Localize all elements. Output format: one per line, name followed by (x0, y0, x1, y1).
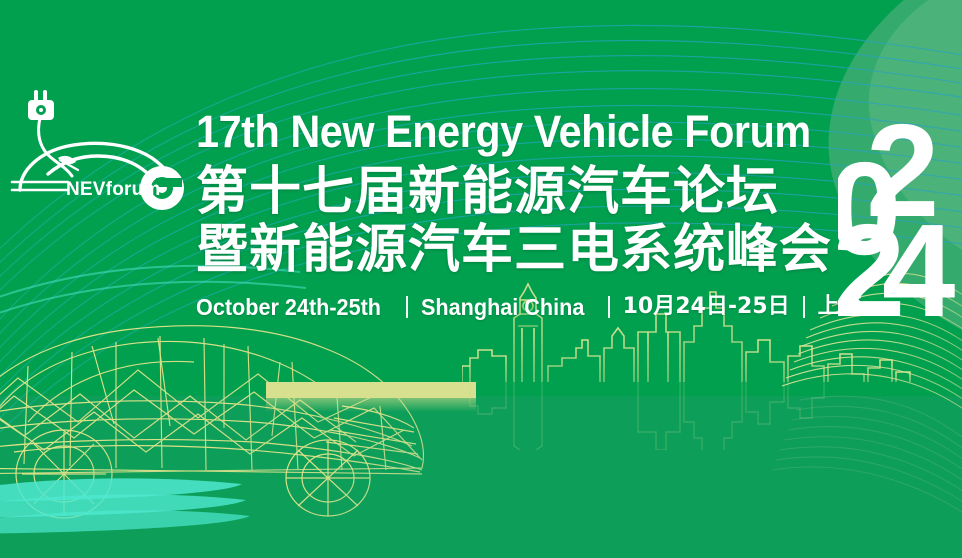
meta-separator-2 (608, 296, 610, 318)
logo-wordmark-forum: forum (106, 179, 161, 200)
charging-plug-icon (28, 90, 54, 120)
title-chinese-line2: 暨新能源汽车三电系统峰会 (196, 222, 846, 278)
meta-date-en: October 24th-25th (196, 294, 381, 320)
cyan-glow-icon (0, 478, 250, 534)
meta-location-en: Shanghai China (421, 294, 584, 320)
event-meta: October 24th-25th Shanghai China 10月24日-… (196, 294, 846, 320)
logo-wordmark: NEVforum (66, 180, 161, 199)
platform-bar-icon (266, 382, 476, 398)
year-digit-bottom-right: 4 (882, 197, 955, 316)
meta-date-cn: 10月24日-25日 (623, 294, 790, 320)
year-2024-graphic: 2 0 2 4 (838, 104, 958, 316)
title-chinese-line1: 第十七届新能源汽车论坛 (196, 164, 846, 220)
event-banner: NEVforum 17th New Energy Vehicle Forum 第… (0, 0, 962, 558)
meta-separator-1 (406, 296, 408, 318)
platform-bar-reflection-icon (266, 398, 476, 412)
logo-wordmark-nev: NEV (66, 179, 106, 200)
title-english: 17th New Energy Vehicle Forum (196, 106, 794, 158)
meta-separator-3 (803, 296, 805, 318)
headline-block: 17th New Energy Vehicle Forum 第十七届新能源汽车论… (196, 106, 846, 320)
